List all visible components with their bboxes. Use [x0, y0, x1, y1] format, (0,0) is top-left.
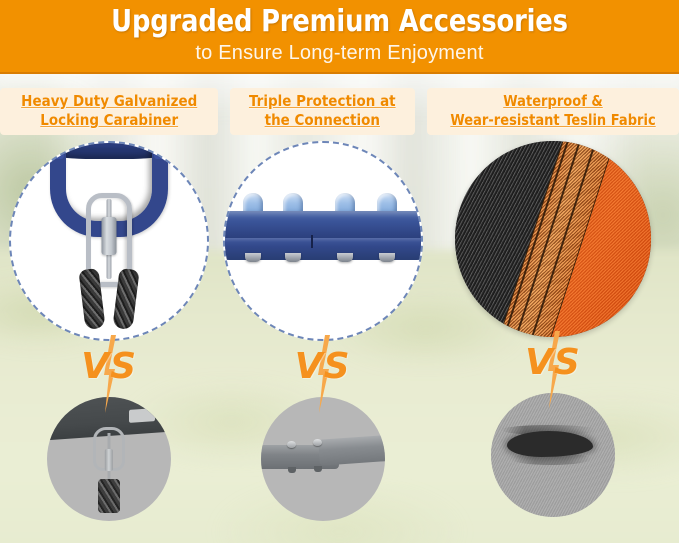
- banner-title: Upgraded Premium Accessories: [48, 0, 632, 40]
- carabiner-illustration: [11, 143, 207, 339]
- vs-badge-carabiner: VS: [74, 345, 144, 395]
- old-bolt-1: [287, 441, 296, 448]
- feature-label-line-1: Waterproof &: [450, 92, 655, 111]
- vs-label: VS: [518, 343, 588, 383]
- vs-label: VS: [74, 347, 144, 387]
- comparison-column-fabric: Waterproof & Wear-resistant Teslin Fabri…: [427, 74, 679, 543]
- bolt-nut-2: [285, 253, 301, 262]
- feature-label-line-2: Locking Carabiner: [21, 111, 197, 130]
- feature-label-connection: Triple Protection at the Connection: [230, 88, 415, 135]
- old-product-circle-carabiner: [47, 397, 171, 521]
- bolt-nut-1: [245, 253, 261, 262]
- pole-connector-illustration: [225, 143, 421, 339]
- feature-label-line-1: Heavy Duty Galvanized: [21, 92, 197, 111]
- comparison-column-connection: Triple Protection at the Connection: [218, 74, 427, 543]
- rope-strand-right: [113, 268, 140, 330]
- old-nut-1: [288, 467, 296, 473]
- infographic-page: Upgraded Premium Accessories to Ensure L…: [0, 0, 679, 543]
- old-bolt-2: [313, 439, 322, 446]
- banner-subtitle: to Ensure Long-term Enjoyment: [0, 40, 679, 66]
- rope-strand-left: [79, 268, 106, 330]
- old-product-circle-connection: [261, 397, 385, 521]
- comparison-column-carabiner: Heavy Duty Galvanized Locking Carabiner: [0, 74, 218, 543]
- old-nut-2: [314, 466, 322, 472]
- upgraded-product-circle-connection: [223, 141, 423, 341]
- old-pole-right: [318, 434, 385, 466]
- feature-label-line-1: Triple Protection at: [249, 92, 396, 111]
- old-fabric-tear-hole: [507, 431, 593, 457]
- teslin-fabric-illustration: [455, 141, 651, 337]
- comparison-columns: Heavy Duty Galvanized Locking Carabiner: [0, 74, 679, 543]
- old-rope: [98, 479, 120, 513]
- vs-badge-connection: VS: [288, 345, 358, 395]
- bolt-nut-4: [379, 253, 395, 262]
- bolt-nut-3: [337, 253, 353, 262]
- feature-label-line-2: the Connection: [249, 111, 396, 130]
- feature-label-fabric: Waterproof & Wear-resistant Teslin Fabri…: [427, 88, 679, 135]
- old-carabiner-sleeve: [105, 449, 113, 471]
- upgraded-product-circle-fabric: [455, 141, 651, 337]
- upgraded-product-circle-carabiner: [9, 141, 209, 341]
- braided-rope: [78, 269, 140, 331]
- header-banner: Upgraded Premium Accessories to Ensure L…: [0, 0, 679, 74]
- vs-badge-fabric: VS: [518, 341, 588, 391]
- carabiner-locking-sleeve: [102, 217, 117, 255]
- vs-label: VS: [288, 347, 358, 387]
- old-frame-tag: [129, 408, 155, 423]
- pole-notch: [311, 235, 313, 248]
- feature-label-carabiner: Heavy Duty Galvanized Locking Carabiner: [0, 88, 218, 135]
- feature-label-line-2: Wear-resistant Teslin Fabric: [450, 111, 655, 130]
- old-product-circle-fabric: [491, 393, 615, 517]
